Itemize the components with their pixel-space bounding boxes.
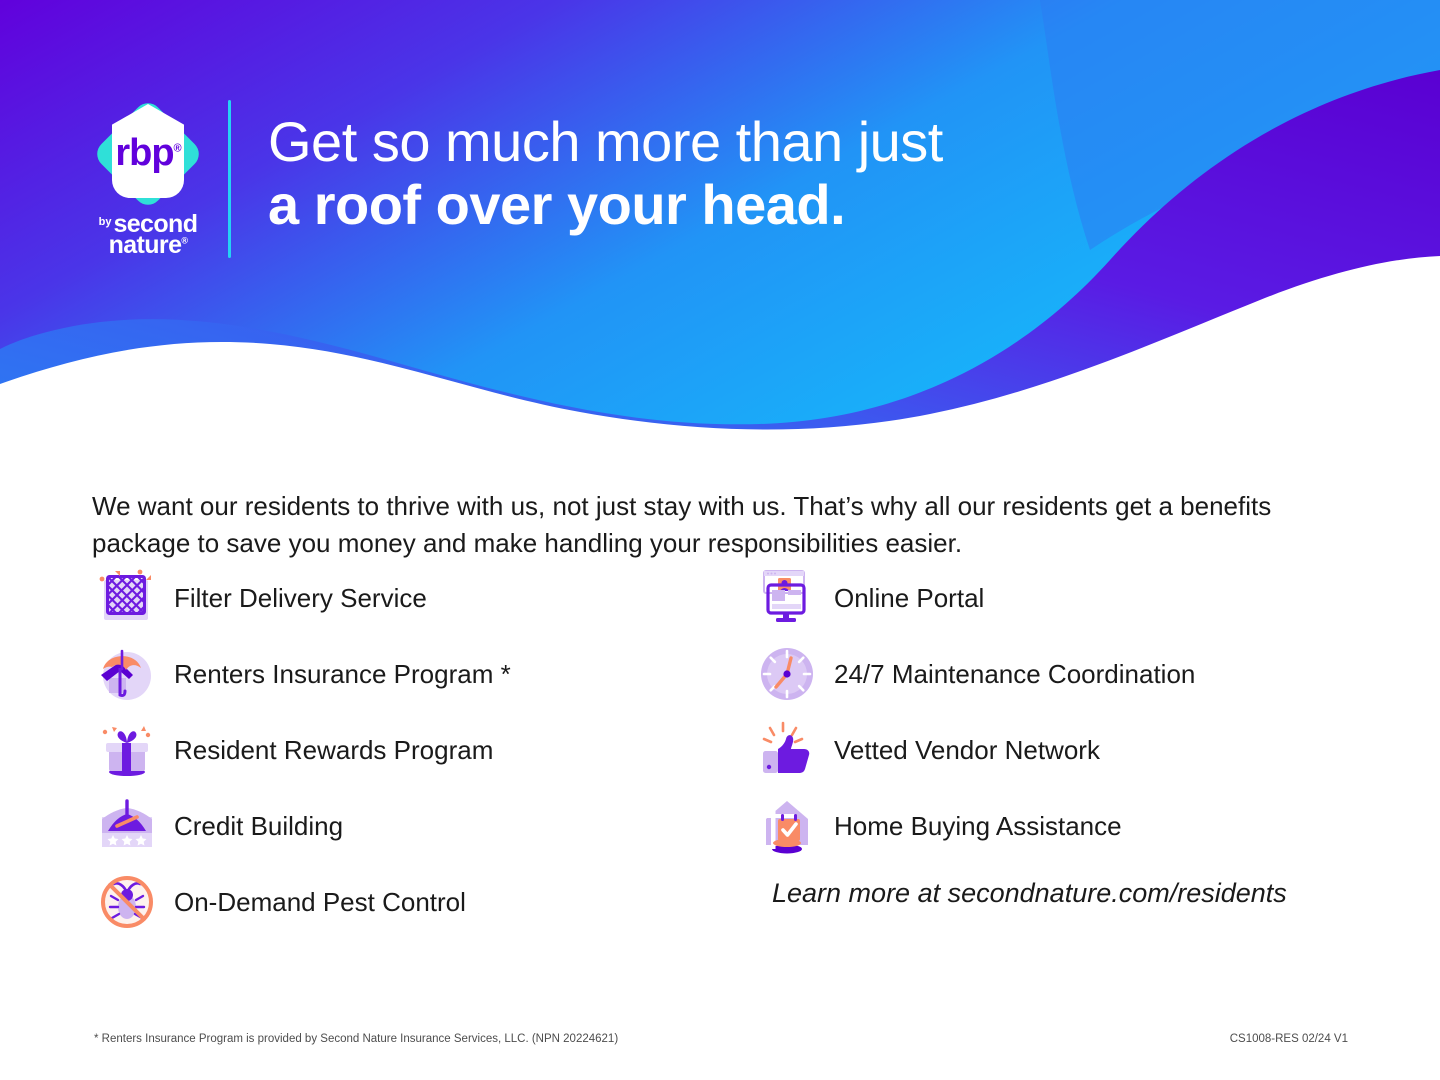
- benefit-item-resident-rewards-program: Resident Rewards Program: [96, 712, 736, 788]
- benefit-item-credit-building: Credit Building: [96, 788, 736, 864]
- benefit-item-renters-insurance-program: Renters Insurance Program *: [96, 636, 736, 712]
- logo-nature-registered-mark: ®: [181, 236, 187, 246]
- benefit-label: 24/7 Maintenance Coordination: [834, 660, 1195, 689]
- logo-registered-mark: ®: [174, 142, 181, 154]
- air-filter-icon: [96, 567, 158, 629]
- benefit-label: Filter Delivery Service: [174, 584, 427, 613]
- umbrella-house-icon: [96, 643, 158, 705]
- headline-line-2: a roof over your head.: [268, 173, 1168, 236]
- logo-rbp-letters: rbp: [115, 132, 173, 174]
- benefit-label: Renters Insurance Program *: [174, 660, 511, 689]
- house-for-sale-icon: [756, 795, 818, 857]
- benefit-item-maintenance-coordination: 24/7 Maintenance Coordination: [756, 636, 1416, 712]
- benefit-item-filter-delivery-service: Filter Delivery Service: [96, 560, 736, 636]
- benefit-label: Resident Rewards Program: [174, 736, 493, 765]
- intro-paragraph: We want our residents to thrive with us,…: [92, 488, 1307, 562]
- benefit-item-on-demand-pest-control: On-Demand Pest Control: [96, 864, 736, 940]
- rbp-logo-mark: rbp®: [94, 100, 202, 208]
- benefit-label: Vetted Vendor Network: [834, 736, 1100, 765]
- footer-doc-code: CS1008-RES 02/24 V1: [1230, 1033, 1348, 1045]
- footer-disclaimer: * Renters Insurance Program is provided …: [94, 1033, 618, 1045]
- benefit-label: Online Portal: [834, 584, 984, 613]
- logo-by-word: by: [99, 216, 112, 228]
- benefit-label: Home Buying Assistance: [834, 812, 1122, 841]
- learn-more-text[interactable]: Learn more at secondnature.com/residents: [772, 878, 1287, 909]
- benefit-item-home-buying-assistance: Home Buying Assistance: [756, 788, 1416, 864]
- page-title: Get so much more than just a roof over y…: [268, 110, 1168, 237]
- benefit-item-online-portal: Online Portal: [756, 560, 1416, 636]
- logo-second-nature-lockup: bysecond nature®: [88, 212, 208, 258]
- benefit-label: Credit Building: [174, 812, 343, 841]
- clock-icon: [756, 643, 818, 705]
- benefits-column-left: Filter Delivery Service Renters Insuranc…: [96, 560, 736, 940]
- rbp-logo: rbp® bysecond nature®: [88, 100, 208, 260]
- no-pest-icon: [96, 871, 158, 933]
- benefits-column-right: Online Portal 24/7 Maintenance Coordinat…: [756, 560, 1416, 864]
- thumbs-up-icon: [756, 719, 818, 781]
- logo-divider-line: [228, 100, 231, 258]
- monitor-portal-icon: [756, 567, 818, 629]
- credit-stars-icon: [96, 795, 158, 857]
- benefit-item-vetted-vendor-network: Vetted Vendor Network: [756, 712, 1416, 788]
- headline-line-1: Get so much more than just: [268, 110, 1168, 173]
- logo-rbp-text: rbp®: [94, 134, 202, 172]
- gift-box-icon: [96, 719, 158, 781]
- benefit-label: On-Demand Pest Control: [174, 888, 466, 917]
